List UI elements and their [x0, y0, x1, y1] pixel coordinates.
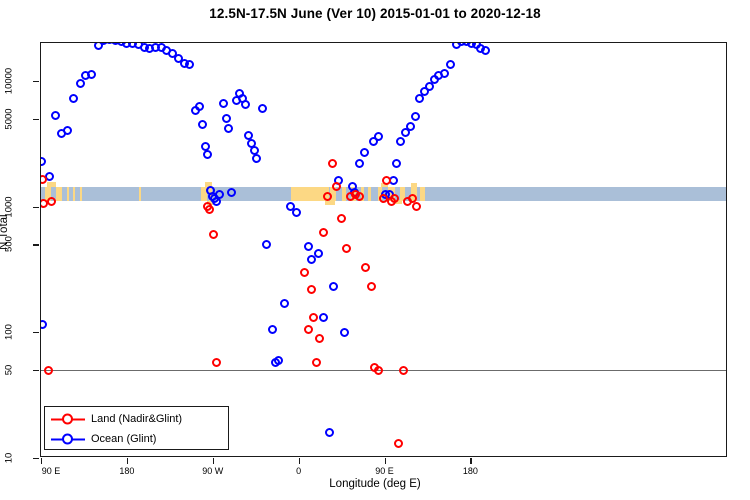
data-point-land [307, 285, 316, 294]
data-point-ocean [274, 356, 283, 365]
x-tick-label: 90 E [375, 466, 394, 476]
data-point-ocean [440, 69, 449, 78]
data-point-ocean [215, 190, 224, 199]
data-point-land [312, 358, 321, 367]
data-point-ocean [340, 328, 349, 337]
land-segment [67, 187, 69, 201]
chart-root: 12.5N-17.5N June (Ver 10) 2015-01-01 to … [0, 0, 750, 500]
data-point-ocean [268, 325, 277, 334]
x-tick [127, 458, 128, 464]
x-axis-label: Longitude (deg E) [0, 478, 750, 490]
y-tick-label: 100 [4, 312, 15, 352]
data-point-land [323, 192, 332, 201]
y-tick [33, 370, 39, 371]
data-point-land [209, 230, 218, 239]
data-point-ocean [406, 122, 415, 131]
data-point-land [44, 366, 53, 375]
y-tick-label: 10000 [4, 61, 15, 101]
data-point-ocean [314, 249, 323, 258]
data-point-land [300, 268, 309, 277]
data-point-ocean [292, 208, 301, 217]
data-point-ocean [63, 126, 72, 135]
data-point-ocean [329, 282, 338, 291]
data-point-land [47, 197, 56, 206]
legend-marker-icon [51, 414, 85, 425]
x-tick-label: 180 [463, 466, 478, 476]
y-tick-label: 50 [4, 350, 15, 390]
data-point-ocean [481, 46, 490, 55]
data-point-ocean [41, 157, 46, 166]
data-point-ocean [374, 132, 383, 141]
x-tick-label: 90 W [202, 466, 223, 476]
y-tick [33, 244, 39, 245]
data-point-ocean [355, 159, 364, 168]
legend-item: Land (Nadir&Glint) [45, 409, 228, 429]
legend-item: Ocean (Glint) [45, 429, 228, 449]
land-segment [80, 187, 82, 201]
data-point-land [367, 282, 376, 291]
data-point-ocean [198, 120, 207, 129]
y-tick [33, 81, 39, 82]
data-point-ocean [185, 60, 194, 69]
data-point-ocean [258, 104, 267, 113]
data-point-land [212, 358, 221, 367]
data-point-land [337, 214, 346, 223]
legend-marker-icon [51, 434, 85, 445]
land-segment [139, 187, 141, 201]
data-point-ocean [446, 60, 455, 69]
plot-area [41, 43, 726, 456]
land-coastline-bump [411, 183, 417, 187]
land-coastline-bump [325, 201, 335, 205]
data-point-ocean [195, 102, 204, 111]
data-point-ocean [280, 299, 289, 308]
y-tick-label: 5000 [4, 99, 15, 139]
data-point-ocean [396, 137, 405, 146]
legend-label: Land (Nadir&Glint) [91, 413, 182, 425]
data-point-ocean [262, 240, 271, 249]
land-segment [56, 187, 62, 201]
data-point-land [374, 366, 383, 375]
data-point-ocean [360, 148, 369, 157]
data-point-land [361, 263, 370, 272]
data-point-land [394, 439, 403, 448]
chart-title: 12.5N-17.5N June (Ver 10) 2015-01-01 to … [0, 6, 750, 21]
data-point-ocean [411, 112, 420, 121]
data-point-land [309, 313, 318, 322]
legend: Land (Nadir&Glint)Ocean (Glint) [44, 406, 229, 450]
data-point-land [342, 244, 351, 253]
x-tick [385, 458, 386, 464]
land-segment [368, 187, 371, 201]
y-tick [33, 332, 39, 333]
land-segment [73, 187, 75, 201]
data-point-land [315, 334, 324, 343]
y-tick [33, 119, 39, 120]
data-point-land [319, 228, 328, 237]
data-point-ocean [51, 111, 60, 120]
x-tick [470, 458, 471, 464]
x-tick [41, 458, 42, 464]
data-point-ocean [319, 313, 328, 322]
land-coastline-bump [49, 183, 55, 187]
data-point-land [382, 176, 391, 185]
data-point-ocean [219, 99, 228, 108]
land-segment [291, 187, 308, 201]
data-point-ocean [87, 70, 96, 79]
data-point-ocean [241, 100, 250, 109]
data-point-ocean [252, 154, 261, 163]
legend-label: Ocean (Glint) [91, 433, 156, 445]
data-point-ocean [224, 124, 233, 133]
data-point-ocean [41, 320, 47, 329]
y-axis-label: N Total [0, 214, 10, 250]
x-tick [213, 458, 214, 464]
data-point-land [399, 366, 408, 375]
data-point-land [304, 325, 313, 334]
data-point-land [328, 159, 337, 168]
reference-line-50 [41, 370, 726, 371]
data-point-land [332, 182, 341, 191]
x-tick-label: 90 E [42, 466, 61, 476]
data-point-ocean [203, 150, 212, 159]
data-point-land [205, 205, 214, 214]
data-point-ocean [325, 428, 334, 437]
data-point-ocean [304, 242, 313, 251]
data-point-land [390, 194, 399, 203]
land-segment [420, 187, 425, 201]
x-tick [299, 458, 300, 464]
data-point-land [412, 202, 421, 211]
y-tick-label: 10 [4, 438, 15, 478]
data-point-ocean [222, 114, 231, 123]
plot-frame: 10501005001000500010000 90 E18090 W090 E… [40, 42, 727, 457]
data-point-ocean [392, 159, 401, 168]
y-tick [33, 458, 39, 459]
x-tick-label: 180 [119, 466, 134, 476]
data-point-ocean [76, 79, 85, 88]
y-tick [33, 207, 39, 208]
data-point-ocean [69, 94, 78, 103]
x-tick-label: 0 [296, 466, 301, 476]
